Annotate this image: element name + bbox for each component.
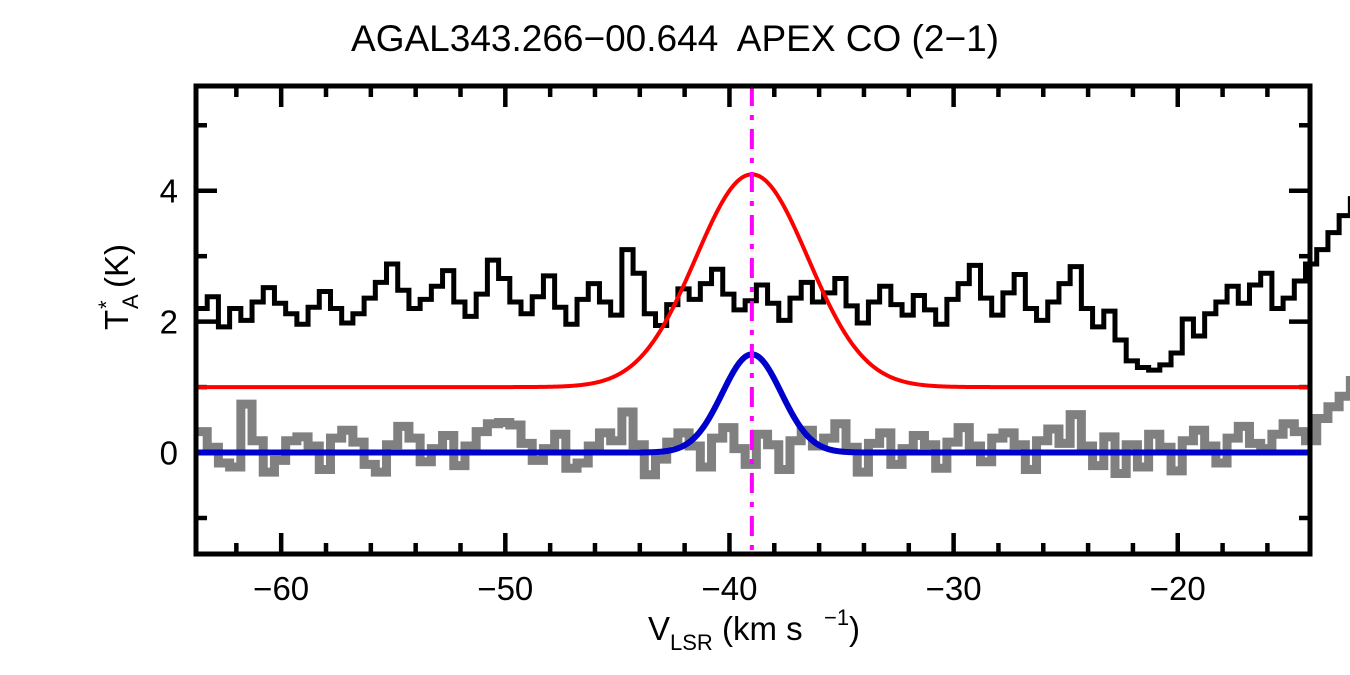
x-tick-label: −40 [701, 570, 757, 607]
x-axis-title-base: V [648, 610, 670, 647]
x-axis-title-unit: (km s [722, 610, 803, 647]
y-axis-title-superscript: * [94, 300, 119, 309]
y-tick-label: 2 [160, 304, 178, 341]
y-axis-title: T * A (K) [94, 244, 143, 330]
y-tick-label: 4 [160, 173, 178, 210]
x-axis-title-close: ) [849, 610, 860, 647]
x-axis-title-sub: LSR [670, 630, 713, 655]
x-axis-title: V LSR (km s −1 ) [648, 605, 860, 655]
y-axis-title-base: T [98, 310, 135, 330]
x-axis-title-exponent: −1 [824, 605, 849, 630]
axis-tick-labels: −60−50−40−30−20024 [160, 173, 1206, 607]
spectrum-figure: AGAL343.266−00.644 APEX CO (2−1) −60−50−… [0, 0, 1350, 675]
x-tick-label: −60 [253, 570, 309, 607]
x-tick-label: −30 [926, 570, 982, 607]
y-axis-title-subscript: A [118, 294, 143, 309]
x-tick-label: −20 [1150, 570, 1206, 607]
x-tick-label: −50 [477, 570, 533, 607]
y-tick-label: 0 [160, 435, 178, 472]
y-axis-title-unit: (K) [98, 244, 135, 288]
spectrum-chart: −60−50−40−30−20024 V LSR (km s −1 ) T * … [0, 0, 1350, 675]
